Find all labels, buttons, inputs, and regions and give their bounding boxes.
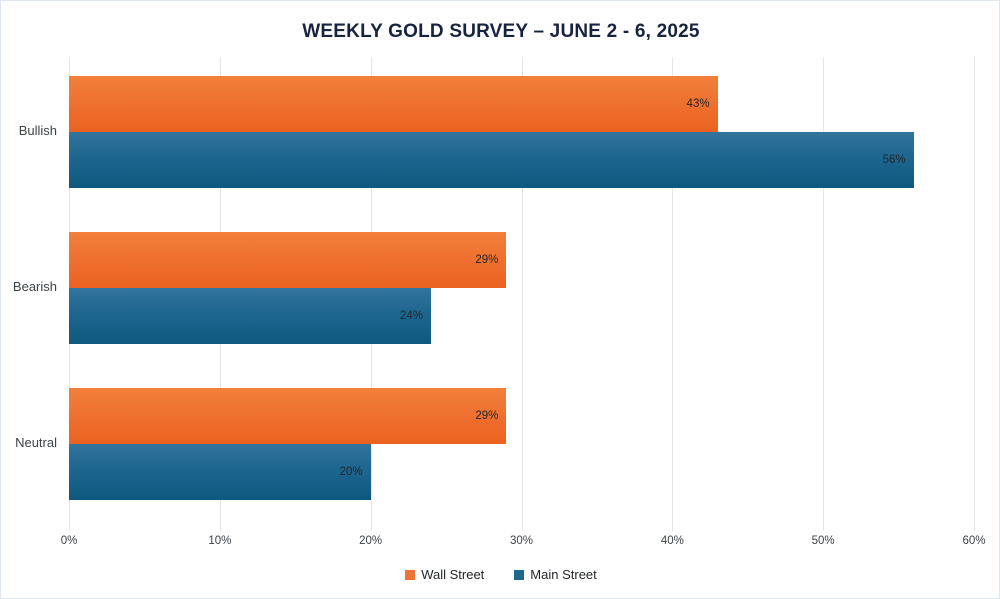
chart-legend: Wall StreetMain Street	[1, 567, 1000, 582]
legend-swatch-icon	[514, 570, 524, 580]
bar-group-bearish: 29%24%	[69, 232, 974, 345]
bar-group-bullish: 43%56%	[69, 76, 974, 189]
bar-group-neutral: 29%20%	[69, 388, 974, 501]
x-tick-label: 10%	[208, 535, 231, 547]
y-axis-category-labels: BullishBearishNeutral	[1, 57, 69, 531]
bar-main-street-bearish[interactable]: 24%	[69, 288, 431, 344]
gridline-60pct	[974, 57, 975, 531]
bar-value-label: 24%	[400, 310, 423, 322]
bar-value-label: 56%	[883, 154, 906, 166]
bar-wall-street-bearish[interactable]: 29%	[69, 232, 506, 288]
bar-value-label: 20%	[340, 466, 363, 478]
legend-item-wall-street[interactable]: Wall Street	[405, 567, 484, 582]
legend-label: Main Street	[530, 567, 596, 582]
bar-row: 56%	[69, 132, 974, 188]
bar-row: 24%	[69, 288, 974, 344]
bar-row: 43%	[69, 76, 974, 132]
bar-value-label: 29%	[475, 410, 498, 422]
x-axis-tick-labels: 0%10%20%30%40%50%60%	[69, 535, 974, 555]
x-tick-label: 50%	[812, 535, 835, 547]
bar-wall-street-neutral[interactable]: 29%	[69, 388, 506, 444]
bar-row: 29%	[69, 232, 974, 288]
y-category-label-bearish: Bearish	[13, 279, 57, 294]
x-tick-label: 0%	[61, 535, 78, 547]
bar-row: 29%	[69, 388, 974, 444]
bar-value-label: 29%	[475, 254, 498, 266]
y-category-label-neutral: Neutral	[15, 435, 57, 450]
y-category-label-bullish: Bullish	[19, 123, 57, 138]
page-title: WEEKLY GOLD SURVEY – JUNE 2 - 6, 2025	[1, 21, 1000, 43]
bar-main-street-bullish[interactable]: 56%	[69, 132, 914, 188]
legend-label: Wall Street	[421, 567, 484, 582]
bar-main-street-neutral[interactable]: 20%	[69, 444, 371, 500]
legend-item-main-street[interactable]: Main Street	[514, 567, 596, 582]
bar-row: 20%	[69, 444, 974, 500]
bar-value-label: 43%	[687, 98, 710, 110]
x-tick-label: 40%	[661, 535, 684, 547]
x-tick-label: 60%	[962, 535, 985, 547]
chart-page: WEEKLY GOLD SURVEY – JUNE 2 - 6, 2025 Bu…	[0, 0, 1000, 599]
legend-swatch-icon	[405, 570, 415, 580]
plot-area: 43%56%29%24%29%20%	[69, 57, 974, 531]
x-tick-label: 30%	[510, 535, 533, 547]
x-tick-label: 20%	[359, 535, 382, 547]
bar-wall-street-bullish[interactable]: 43%	[69, 76, 718, 132]
